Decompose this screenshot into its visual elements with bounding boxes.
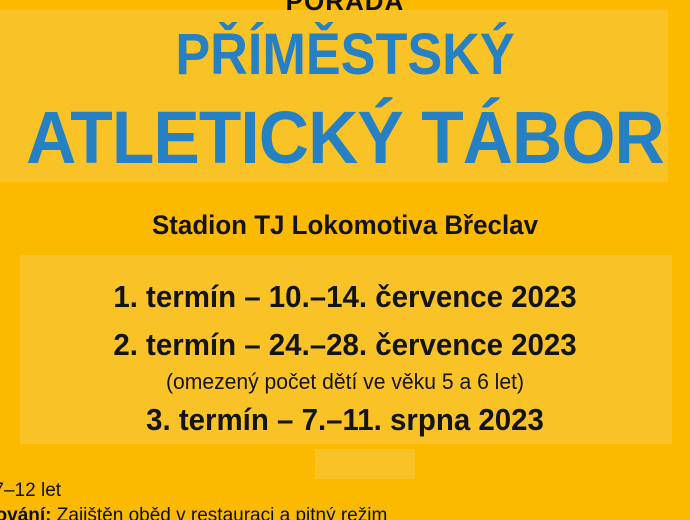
venue-label: Stadion TJ Lokomotiva Břeclav: [14, 212, 676, 239]
detail-catering-label: Stravování:: [0, 505, 51, 520]
detail-catering-value: Zajištěn oběd v restauraci a pitný režim: [57, 505, 388, 520]
poster-canvas: POŘÁDÁ PŘÍMĚSTSKÝ ATLETICKÝ TÁBOR Stadio…: [0, 0, 690, 520]
term-item-2-note: (omezený počet dětí ve věku 5 a 6 let): [14, 371, 676, 393]
term-item-1: 1. termín – 10.–14. července 2023: [17, 281, 673, 312]
detail-age-value: 7–12 let: [0, 480, 61, 501]
detail-catering: Stravování: Zajištěn oběd v restauraci a…: [0, 506, 690, 520]
organizer-label: POŘÁDÁ: [0, 0, 690, 14]
term-item-3: 3. termín – 7.–11. srpna 2023: [17, 404, 673, 435]
poster-headline-secondary: ATLETICKÝ TÁBOR: [21, 101, 670, 175]
detail-age: Věk: 7–12 let: [0, 481, 690, 500]
term-item-2: 2. termín – 24.–28. července 2023: [17, 329, 673, 360]
accent-chip-background: [315, 449, 415, 479]
poster-headline-primary: PŘÍMĚSTSKÝ: [35, 26, 656, 84]
